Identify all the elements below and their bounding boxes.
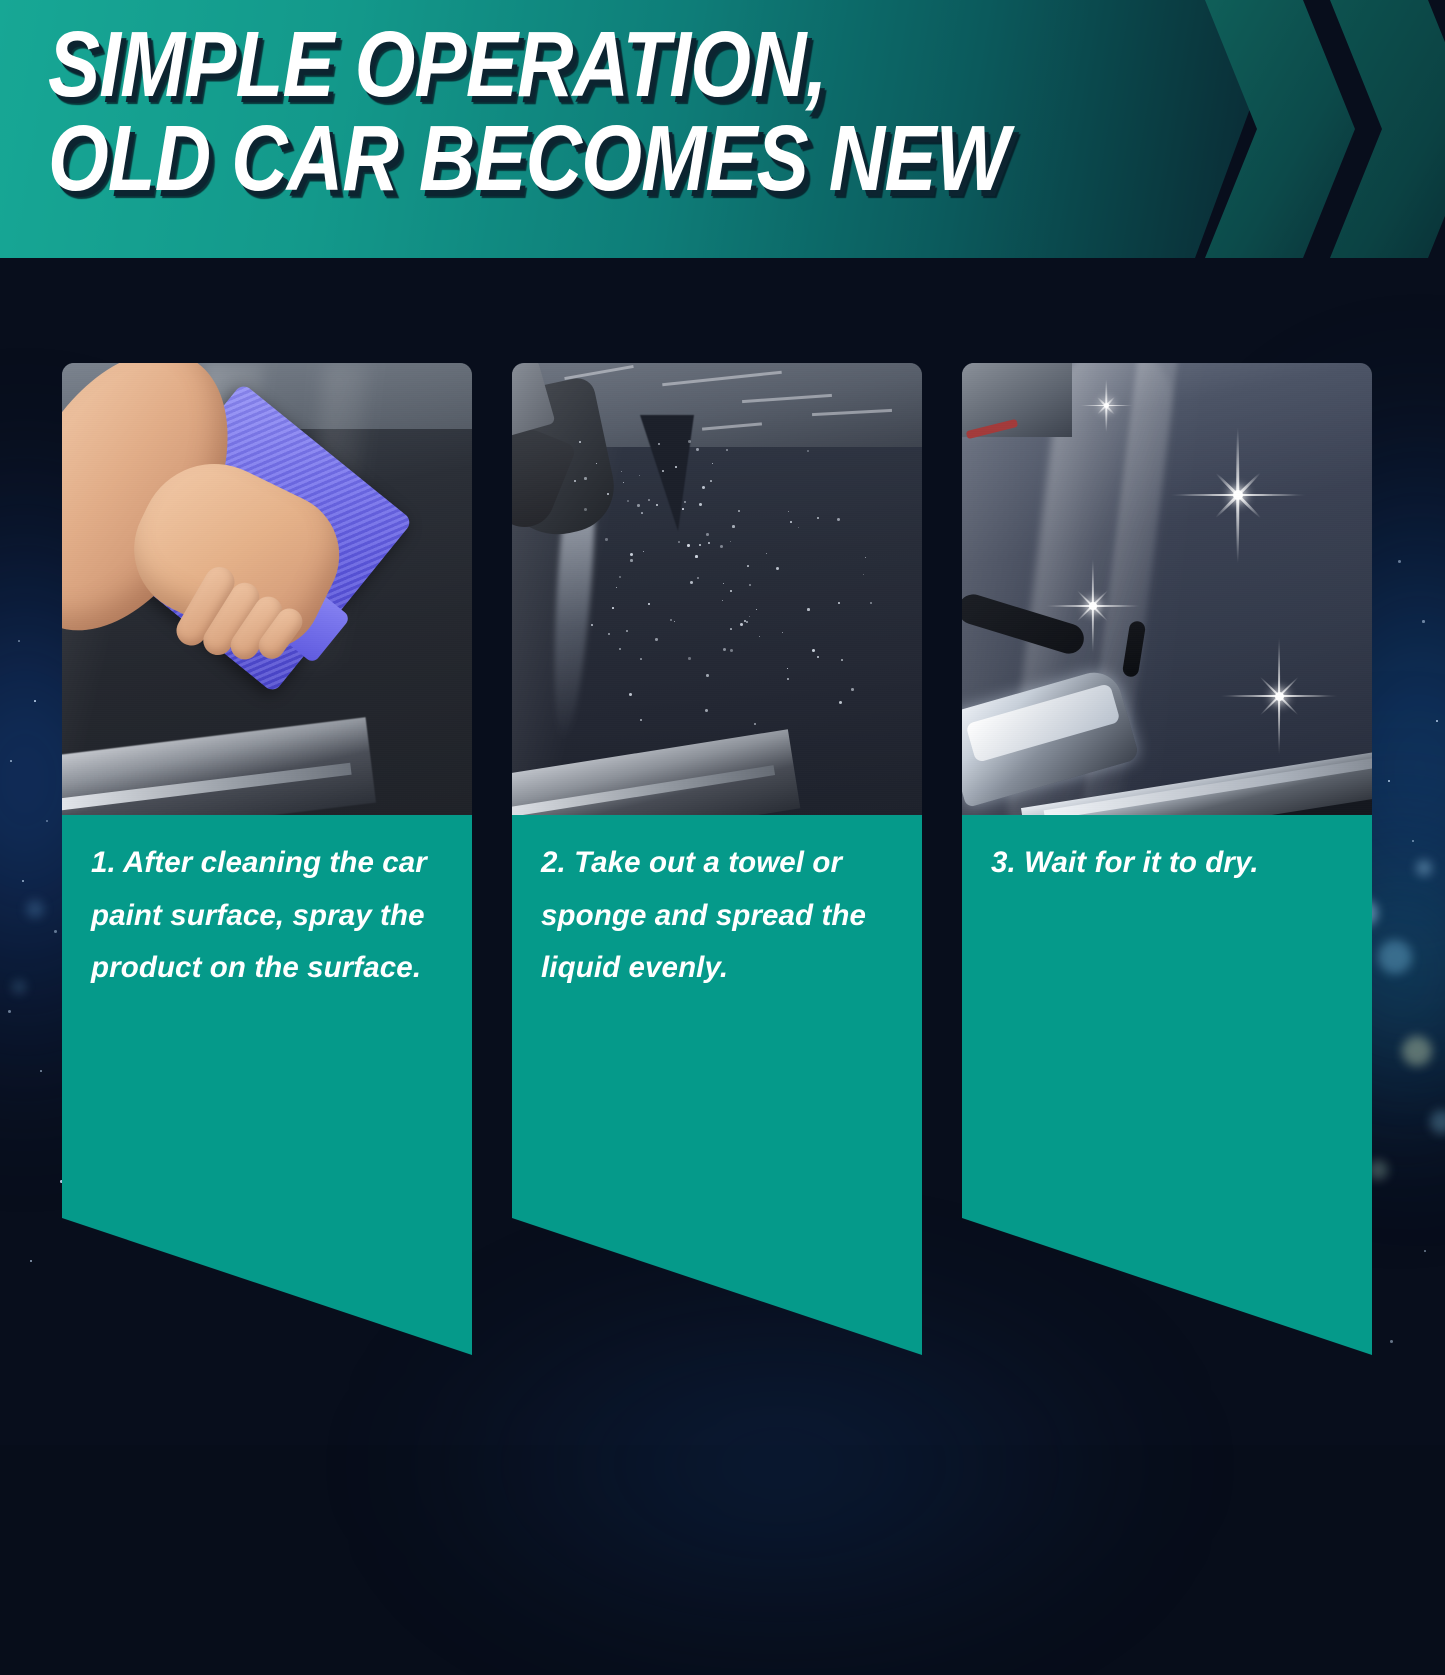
bokeh-dot (1430, 1110, 1445, 1134)
step-card-2: 2. Take out a towel or sponge and spread… (512, 363, 922, 1355)
background-spark (1436, 720, 1438, 722)
spray-droplet (841, 659, 843, 661)
spray-droplet (740, 623, 743, 626)
background-spark (54, 930, 57, 933)
spray-droplet (637, 504, 640, 507)
step-1-panel: 1. After cleaning the car paint surface,… (62, 815, 472, 1355)
spray-droplet (738, 510, 740, 512)
spray-droplet (695, 555, 698, 558)
spray-droplet (688, 440, 691, 443)
background-spark (10, 760, 12, 762)
spray-droplet (687, 544, 690, 547)
spray-droplet (579, 441, 581, 443)
spray-droplet (863, 574, 864, 575)
spray-droplet (730, 590, 732, 592)
background-spark (1388, 780, 1390, 782)
background-spark (8, 1010, 11, 1013)
spray-droplet (851, 688, 854, 691)
spray-droplet (730, 628, 732, 630)
bokeh-dot (1416, 860, 1432, 876)
spray-droplet (688, 657, 691, 660)
spray-droplet (655, 638, 658, 641)
step-1-photo (62, 363, 472, 815)
spray-droplet (648, 603, 650, 605)
banner-title-line-2: OLD CAR BECOMES NEW (48, 116, 989, 202)
spray-droplet (584, 477, 587, 480)
spray-droplet (726, 449, 728, 451)
spray-droplet (710, 480, 712, 482)
spray-droplet (732, 525, 735, 528)
background-spark (1422, 620, 1425, 623)
background-spark (18, 640, 20, 642)
banner-title: SIMPLE OPERATION, OLD CAR BECOMES NEW (48, 22, 1168, 201)
spray-droplet (682, 508, 684, 510)
spray-droplet (839, 701, 842, 704)
spray-droplet (705, 709, 708, 712)
spray-droplet (648, 499, 650, 501)
spray-droplet (626, 630, 628, 632)
banner-title-line-1: SIMPLE OPERATION, (48, 22, 989, 108)
spray-droplet (838, 602, 840, 604)
spray-droplet (706, 533, 709, 536)
spray-droplet (640, 719, 642, 721)
step-2-panel: 2. Take out a towel or sponge and spread… (512, 815, 922, 1355)
background-spark (46, 820, 48, 822)
spray-droplet (630, 559, 633, 562)
spray-droplet (641, 512, 643, 514)
bokeh-dot (1402, 1036, 1432, 1066)
step-2-photo (512, 363, 922, 815)
spray-droplet (662, 470, 664, 472)
spray-droplet (670, 619, 672, 621)
spray-droplet (678, 541, 680, 543)
spray-droplet (696, 448, 699, 451)
hood-shadow-edge (640, 415, 694, 531)
background-spark (34, 700, 36, 702)
step-2-text: 2. Take out a towel or sponge and spread… (541, 837, 899, 995)
spray-droplet (675, 466, 677, 468)
spray-droplet (612, 607, 614, 609)
bokeh-dot (12, 980, 26, 994)
spray-droplet (870, 602, 872, 604)
step-3-text: 3. Wait for it to dry. (991, 837, 1349, 890)
spray-droplet (837, 518, 840, 521)
spray-droplet (749, 616, 750, 617)
bokeh-dot (26, 900, 44, 918)
step-card-1: 1. After cleaning the car paint surface,… (62, 363, 472, 1355)
spray-droplet (807, 608, 810, 611)
background-spark (30, 1260, 32, 1262)
bokeh-dot (1378, 940, 1412, 974)
spray-droplet (640, 658, 642, 660)
step-card-3: 3. Wait for it to dry. (962, 363, 1372, 1355)
spray-droplet (730, 541, 731, 542)
step-3-photo (962, 363, 1372, 815)
spray-droplet (790, 521, 792, 523)
spray-droplet (627, 500, 629, 502)
spray-droplet (807, 450, 809, 452)
step-1-text: 1. After cleaning the car paint surface,… (91, 837, 449, 995)
background-spark (22, 880, 24, 882)
background-spark (1398, 560, 1401, 563)
spray-droplet (706, 674, 709, 677)
background-spark (1412, 840, 1414, 842)
spray-droplet (699, 544, 701, 546)
background-spark (1424, 1250, 1426, 1252)
step-3-panel: 3. Wait for it to dry. (962, 815, 1372, 1355)
spray-droplet (747, 565, 749, 567)
spray-droplet (630, 553, 633, 556)
spray-droplet (723, 583, 724, 584)
spray-droplet (605, 538, 608, 541)
background-spark (1390, 1340, 1393, 1343)
spray-droplet (584, 508, 587, 511)
background-spark (40, 1070, 42, 1072)
